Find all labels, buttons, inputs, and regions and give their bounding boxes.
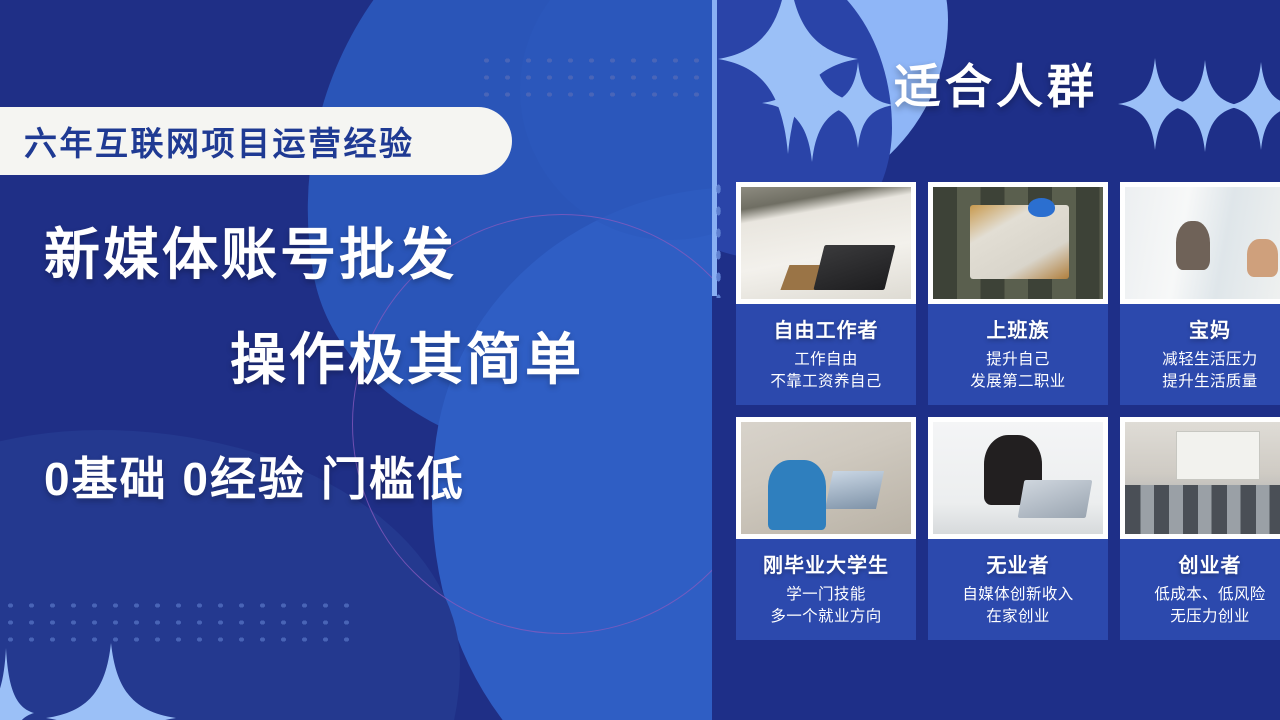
card-title: 创业者: [1120, 549, 1280, 578]
card-subtitle: 提升自己 发展第二职业: [928, 349, 1108, 393]
card-image-frame: [736, 182, 916, 304]
card-line: 学一门技能: [736, 584, 916, 606]
student-at-desk-with-laptop-photo: [741, 422, 911, 534]
office-team-meeting-top-down-photo: [933, 187, 1103, 299]
card-image-frame: [736, 417, 916, 539]
left-panel: 六年互联网项目运营经验 新媒体账号批发 操作极其简单 0基础 0经验 门槛低: [0, 0, 712, 720]
audience-card[interactable]: 创业者 低成本、低风险 无压力创业: [1120, 417, 1280, 640]
card-subtitle: 工作自由 不靠工资养自己: [736, 349, 916, 393]
card-title: 宝妈: [1120, 314, 1280, 343]
section-title: 适合人群: [712, 48, 1280, 117]
card-line: 多一个就业方向: [736, 606, 916, 628]
card-line: 在家创业: [928, 606, 1108, 628]
conference-room-presentation-photo: [1125, 422, 1280, 534]
card-line: 自媒体创新收入: [928, 584, 1108, 606]
headline-block: 新媒体账号批发 操作极其简单: [0, 210, 700, 396]
sparkle-icon-bottom-left: [46, 643, 176, 720]
card-subtitle: 学一门技能 多一个就业方向: [736, 584, 916, 628]
card-line: 减轻生活压力: [1120, 349, 1280, 371]
person-working-on-laptop-in-bed-photo: [741, 187, 911, 299]
card-line: 提升自己: [928, 349, 1108, 371]
dot-grid-bottom-icon: [0, 597, 352, 649]
card-title: 无业者: [928, 549, 1108, 578]
subline-text: 0基础 0经验 门槛低: [44, 443, 664, 509]
card-line: 工作自由: [736, 349, 916, 371]
card-image-frame: [1120, 417, 1280, 539]
audience-card[interactable]: 上班族 提升自己 发展第二职业: [928, 182, 1108, 405]
card-image-frame: [928, 182, 1108, 304]
card-image-frame: [1120, 182, 1280, 304]
audience-card[interactable]: 刚毕业大学生 学一门技能 多一个就业方向: [736, 417, 916, 640]
dot-grid-top-icon: [476, 52, 712, 104]
card-line: 不靠工资养自己: [736, 371, 916, 393]
card-subtitle: 自媒体创新收入 在家创业: [928, 584, 1108, 628]
card-line: 无压力创业: [1120, 606, 1280, 628]
card-line: 提升生活质量: [1120, 371, 1280, 393]
rail-dots-icon: [713, 178, 723, 298]
audience-card-grid: 自由工作者 工作自由 不靠工资养自己 上班族 提升自己 发展第二职业: [736, 182, 1280, 640]
card-subtitle: 减轻生活压力 提升生活质量: [1120, 349, 1280, 393]
card-line: 发展第二职业: [928, 371, 1108, 393]
card-subtitle: 低成本、低风险 无压力创业: [1120, 584, 1280, 628]
right-panel: 适合人群 自由工作者 工作自由 不靠工资养自己 上班族 提升自己: [712, 0, 1280, 720]
card-image-frame: [928, 417, 1108, 539]
audience-card[interactable]: 无业者 自媒体创新收入 在家创业: [928, 417, 1108, 640]
card-title: 刚毕业大学生: [736, 549, 916, 578]
stressed-woman-covering-face-at-laptop-photo: [933, 422, 1103, 534]
audience-card[interactable]: 宝妈 减轻生活压力 提升生活质量: [1120, 182, 1280, 405]
experience-badge: 六年互联网项目运营经验: [0, 107, 512, 175]
card-title: 上班族: [928, 314, 1108, 343]
headline-line-2: 操作极其简单: [0, 315, 700, 396]
audience-card[interactable]: 自由工作者 工作自由 不靠工资养自己: [736, 182, 916, 405]
mother-with-child-on-bed-laptop-photo: [1125, 187, 1280, 299]
sparkle-icon-bottom-left-small: [0, 648, 34, 720]
headline-line-1: 新媒体账号批发: [0, 210, 700, 291]
card-title: 自由工作者: [736, 314, 916, 343]
promo-poster: 六年互联网项目运营经验 新媒体账号批发 操作极其简单 0基础 0经验 门槛低: [0, 0, 1280, 720]
experience-badge-label: 六年互联网项目运营经验: [24, 117, 415, 165]
card-line: 低成本、低风险: [1120, 584, 1280, 606]
